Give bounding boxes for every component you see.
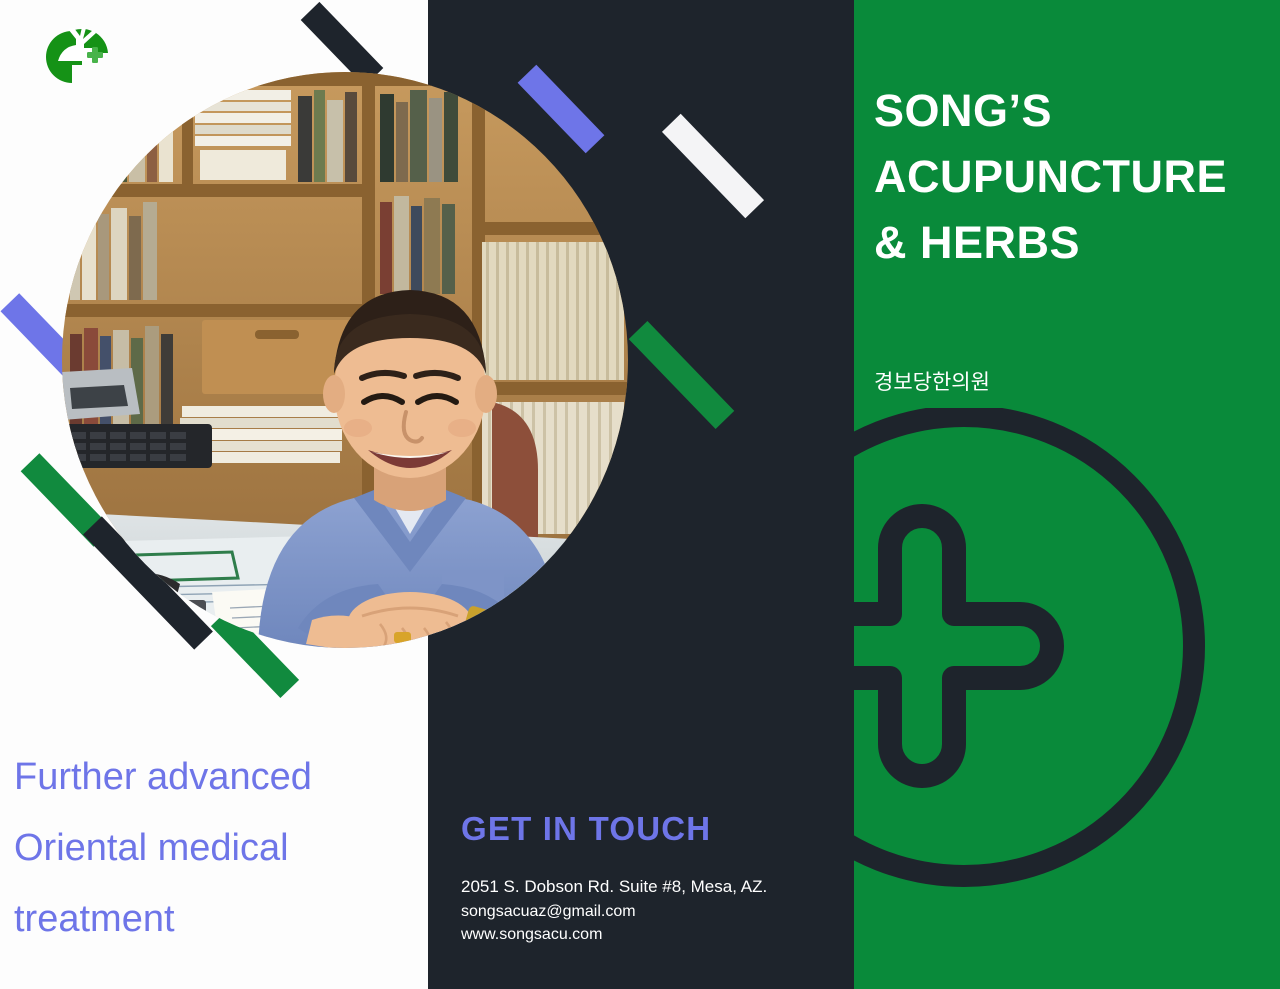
- practitioner-photo: [62, 72, 628, 648]
- contact-email[interactable]: songsacuaz@gmail.com: [461, 900, 767, 923]
- brand-title-line-2: ACUPUNCTURE: [874, 144, 1274, 210]
- brand-title: SONG’S ACUPUNCTURE & HERBS: [874, 78, 1274, 276]
- brand-title-line-1: SONG’S: [874, 78, 1274, 144]
- circle-with-medical-cross-icon: [854, 408, 1280, 908]
- contact-address: 2051 S. Dobson Rd. Suite #8, Mesa, AZ.: [461, 874, 767, 900]
- tagline-line-2: Oriental medical: [14, 813, 414, 884]
- tagline-line-1: Further advanced: [14, 742, 414, 813]
- contact-details: 2051 S. Dobson Rd. Suite #8, Mesa, AZ. s…: [461, 874, 767, 946]
- contact-website[interactable]: www.songsacu.com: [461, 923, 767, 946]
- poster-canvas: SONG’S ACUPUNCTURE & HERBS 경보당한의원 Furthe…: [0, 0, 1280, 989]
- deer-head-with-medical-cross-logo: [36, 25, 108, 87]
- brand-title-line-3: & HERBS: [874, 210, 1274, 276]
- tagline: Further advanced Oriental medical treatm…: [14, 742, 414, 955]
- tagline-line-3: treatment: [14, 884, 414, 955]
- emblem-icon: [854, 408, 1280, 908]
- brand-korean-name: 경보당한의원: [874, 366, 990, 396]
- practitioner-photo-illustration: [62, 72, 628, 648]
- get-in-touch-heading: GET IN TOUCH: [461, 810, 711, 848]
- logo-icon: [36, 25, 108, 87]
